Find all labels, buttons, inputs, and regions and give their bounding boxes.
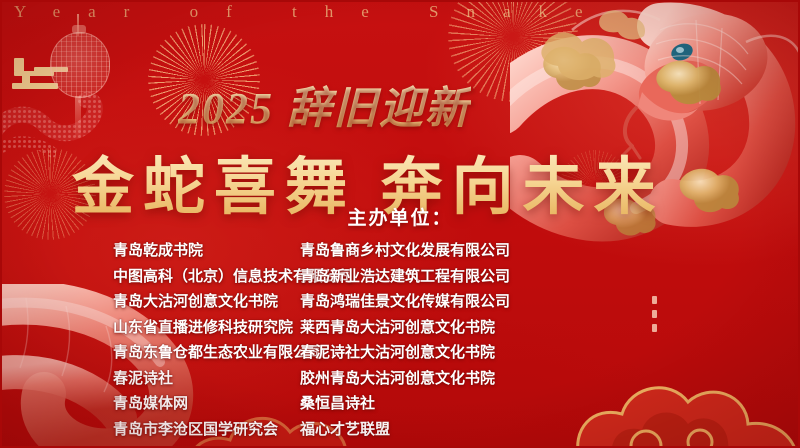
organizer-item: 春泥诗社大沽河创意文化书院 — [300, 340, 690, 366]
organizer-item: 青岛鸿瑞佳景文化传媒有限公司 — [300, 289, 690, 315]
headline-year-phrase: 2025 辞旧迎新 — [178, 72, 471, 136]
banner-latin-text: Year of the Snake — [14, 2, 794, 22]
organizers-label: 主办单位： — [0, 203, 800, 230]
organizer-item: 青岛大沽河创意文化书院 — [113, 289, 290, 315]
dot — [652, 324, 657, 332]
organizer-item: 青岛媒体网 — [113, 391, 290, 417]
organizer-item: 山东省直播进修科技研究院 — [113, 315, 290, 341]
organizer-item: 莱西青岛大沽河创意文化书院 — [300, 315, 690, 341]
organizer-item: 桑恒昌诗社 — [300, 391, 690, 417]
organizer-item: 青岛乾成书院 — [113, 238, 290, 264]
organizer-item: 青岛市李沧区国学研究会 — [113, 417, 290, 443]
new-year-poster: Year of the Snake 2025 辞旧迎新 金蛇喜舞 奔向未来 主办… — [0, 0, 800, 448]
organizers-column-left: 青岛乾成书院 中图高科（北京）信息技术有限公司 青岛大沽河创意文化书院 山东省直… — [0, 238, 290, 442]
organizer-item: 福心才艺联盟 — [300, 417, 690, 443]
organizer-item: 青岛鲁商乡村文化发展有限公司 — [300, 238, 690, 264]
organizer-item: 中图高科（北京）信息技术有限公司 — [113, 264, 290, 290]
organizers-columns: 青岛乾成书院 中图高科（北京）信息技术有限公司 青岛大沽河创意文化书院 山东省直… — [0, 238, 800, 442]
dot — [652, 296, 657, 304]
organizers-column-right: 青岛鲁商乡村文化发展有限公司 青岛新业浩达建筑工程有限公司 青岛鸿瑞佳景文化传媒… — [290, 238, 690, 442]
organizer-item: 春泥诗社 — [113, 366, 290, 392]
dot — [652, 310, 657, 318]
organizer-item: 胶州青岛大沽河创意文化书院 — [300, 366, 690, 392]
organizer-item: 青岛新业浩达建筑工程有限公司 — [300, 264, 690, 290]
organizer-item: 青岛东鲁仓都生态农业有限公司 — [113, 340, 290, 366]
dotted-divider-marker — [652, 296, 657, 332]
